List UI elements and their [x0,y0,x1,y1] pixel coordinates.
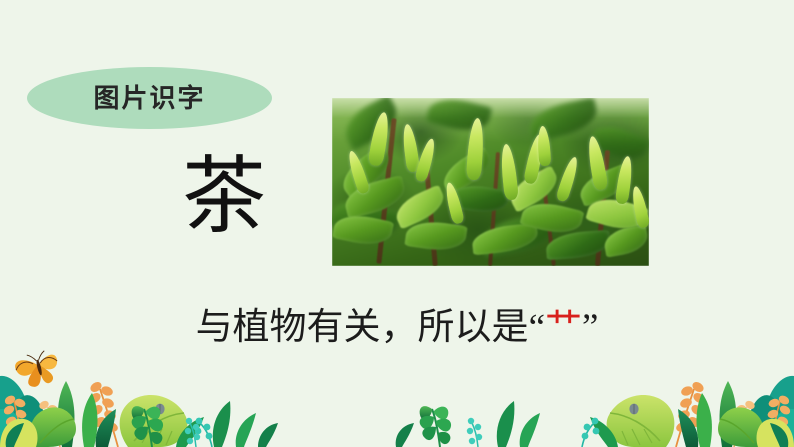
foliage-spear-right [678,409,698,447]
foliage-leaf-vein [142,429,172,445]
butterfly-icon [13,348,62,390]
berry-sprig-right-3 [734,407,746,447]
foliage-leaf-left-small [0,419,38,447]
teal-berries-right [582,418,600,440]
teal-sprig-middle [467,418,482,447]
foliage-leaf-right-large [607,395,675,447]
berry-cluster-right-1 [764,394,791,438]
foliage-spear [396,423,414,447]
foliage-cluster-middle-left [132,401,278,447]
teal-berries-left [195,418,213,440]
ladybug-icon [155,404,164,415]
foliage-cluster-right [582,371,794,447]
berry-cluster-right-3 [733,399,756,432]
foliage-leaf-right-small [757,419,794,447]
teal-sprig-right [582,423,594,447]
foliage-leaf-vein [622,429,652,445]
berry-sprig-right-2 [676,389,694,447]
foliage-leaf-left-large [120,395,188,447]
title-pill-label: 图片识字 [93,85,205,111]
slide-canvas: 图片识字 茶 [0,0,794,447]
foliage-spear [236,413,256,447]
caption-highlight-radical: 艹 [545,307,582,348]
berry-sprig-right-1 [772,401,780,445]
caption-line: 与植物有关，所以是“艹” [0,306,794,350]
fern-sprig [420,406,451,447]
caption-close-quote: ” [582,307,598,348]
foliage-blade-right [720,381,737,447]
foliage-back-leaves-right [744,371,794,447]
foliage-cluster-left [0,348,212,447]
bottom-foliage-border [0,337,794,447]
foliage-spear [258,423,278,447]
fern-sprig [132,406,163,447]
berry-sprig-left-2 [100,389,118,447]
main-character: 茶 [178,156,270,240]
foliage-leaf-right-mid [718,407,764,447]
berry-cluster-left-2 [88,380,120,441]
teal-sprig-left [200,423,212,447]
title-pill: 图片识字 [27,67,272,129]
caption-open-quote: “ [529,307,545,348]
teal-sprig-middle [185,418,200,447]
foliage-back-leaves-left [0,371,50,447]
foliage-spear-left [6,423,24,447]
foliage-spear [520,413,540,447]
foliage-blade-left [58,381,75,447]
foliage-leaf-vein [134,413,184,441]
ladybug-icon-right [629,404,638,415]
berry-sprig-left-3 [48,407,60,447]
caption-lead: 与植物有关，所以是 [196,307,529,348]
foliage-blade-left [82,393,97,447]
foliage-spear [213,401,231,447]
foliage-leaf-vein [610,413,660,441]
berry-cluster-left-3 [38,399,61,432]
berry-cluster-left-1 [2,394,29,438]
foliage-spear-right [770,423,788,447]
foliage-spear [497,401,515,447]
berry-sprig-left-1 [14,401,22,445]
foliage-leaf-vein [40,419,74,443]
foliage-spear-left [96,409,116,447]
foliage-leaf-vein [720,419,754,443]
foliage-cluster-middle-right [396,401,540,447]
foliage-spear-right [590,417,618,447]
foliage-spear-left [176,417,204,447]
tea-plant-photo [332,98,649,266]
foliage-leaf-left-mid [30,407,76,447]
berry-cluster-right-2 [675,380,707,441]
foliage-blade-right [697,393,712,447]
